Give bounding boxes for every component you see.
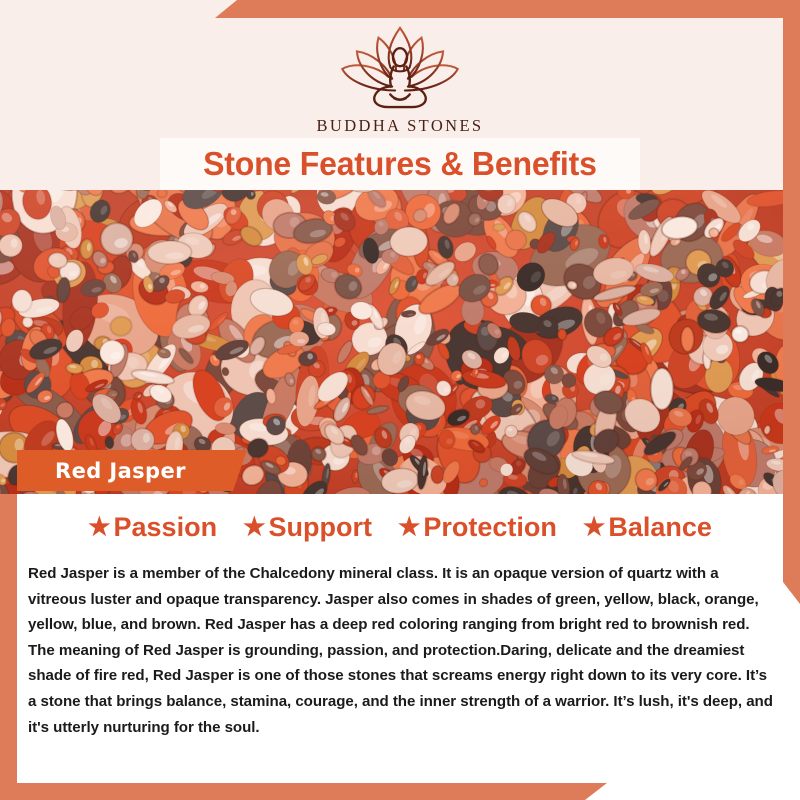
infographic-page: BUDDHA STONES Stone Features & Benefits [0,0,800,800]
stone-photo-canvas [0,190,783,494]
benefit-label-protection: Protection [423,512,557,543]
stone-photo [0,190,783,494]
stone-name-ribbon: Red Jasper [17,450,247,491]
benefits-row: ★ Passion ★ Support ★ Protection ★ Balan… [17,512,783,543]
brand-name: BUDDHA STONES [316,116,483,136]
benefit-label-balance: Balance [608,512,712,543]
decorative-bottom-bar [0,783,607,800]
benefit-item-3: ★ Balance [583,512,712,543]
stone-name: Red Jasper [55,459,186,483]
lotus-meditation-icon [335,22,465,112]
benefit-label-passion: Passion [114,512,218,543]
brand-logo: BUDDHA STONES [0,22,800,136]
benefit-item-2: ★ Protection [398,512,557,543]
star-icon: ★ [88,515,110,540]
star-icon: ★ [583,515,605,540]
decorative-left-bar [0,494,17,800]
benefit-item-0: ★ Passion [88,512,217,543]
page-title: Stone Features & Benefits [203,145,597,183]
title-band: Stone Features & Benefits [160,138,640,190]
star-icon: ★ [398,515,420,540]
benefit-label-support: Support [268,512,371,543]
benefit-item-1: ★ Support [243,512,372,543]
stone-description-text: Red Jasper is a member of the Chalcedony… [28,561,773,740]
decorative-top-bar [215,0,800,18]
star-icon: ★ [243,515,265,540]
